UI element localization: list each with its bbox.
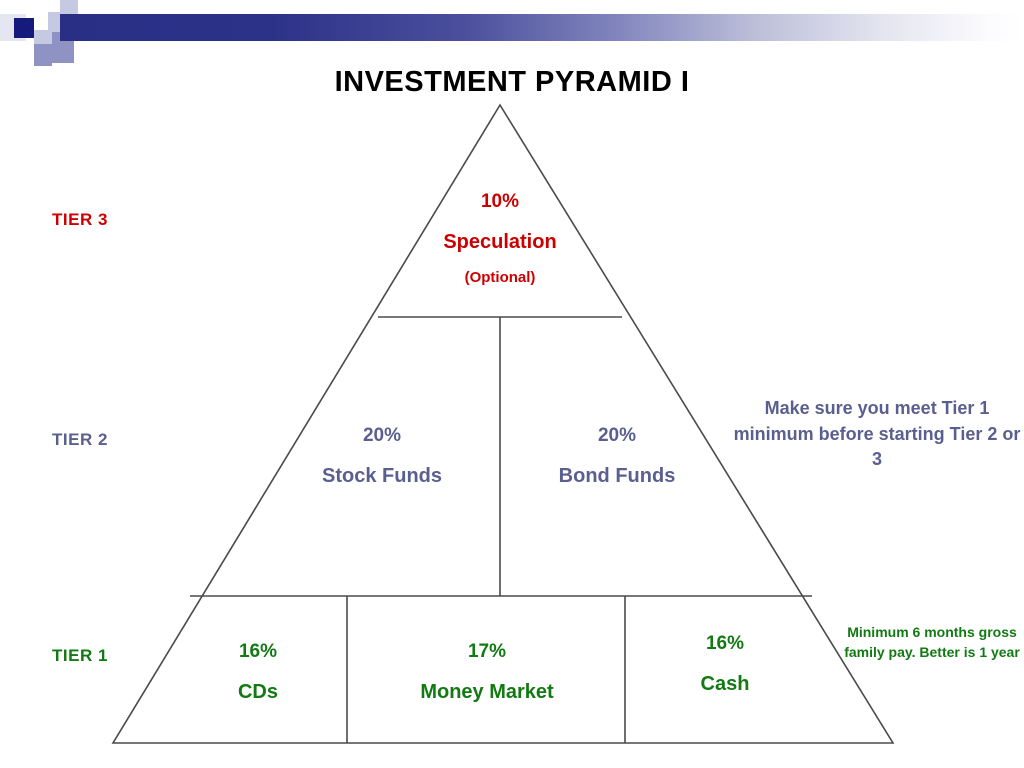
pyramid-cell-cds: 16% CDs: [173, 638, 343, 707]
cell-name: Cash: [640, 670, 810, 699]
cell-subtext: (Optional): [390, 267, 610, 289]
pyramid-cell-money-market: 17% Money Market: [352, 638, 622, 707]
note-tier1: Minimum 6 months gross family pay. Bette…: [840, 622, 1024, 663]
tier-label-tier3: TIER 3: [52, 210, 108, 230]
cell-percent: 20%: [262, 422, 502, 450]
tier-label-tier2: TIER 2: [52, 430, 108, 450]
cell-name: Money Market: [352, 678, 622, 707]
pyramid-cell-stock-funds: 20% Stock Funds: [262, 422, 502, 491]
cell-name: Bond Funds: [497, 462, 737, 491]
cell-name: CDs: [173, 678, 343, 707]
cell-percent: 17%: [352, 638, 622, 666]
note-tier2: Make sure you meet Tier 1 minimum before…: [732, 396, 1022, 473]
cell-name: Speculation: [390, 228, 610, 257]
pyramid-cell-cash: 16% Cash: [640, 630, 810, 699]
cell-percent: 16%: [640, 630, 810, 658]
tier-label-tier1: TIER 1: [52, 646, 108, 666]
cell-percent: 10%: [390, 188, 610, 216]
cell-percent: 20%: [497, 422, 737, 450]
pyramid-cell-speculation: 10% Speculation (Optional): [390, 188, 610, 288]
cell-name: Stock Funds: [262, 462, 502, 491]
pyramid-cell-bond-funds: 20% Bond Funds: [497, 422, 737, 491]
cell-percent: 16%: [173, 638, 343, 666]
